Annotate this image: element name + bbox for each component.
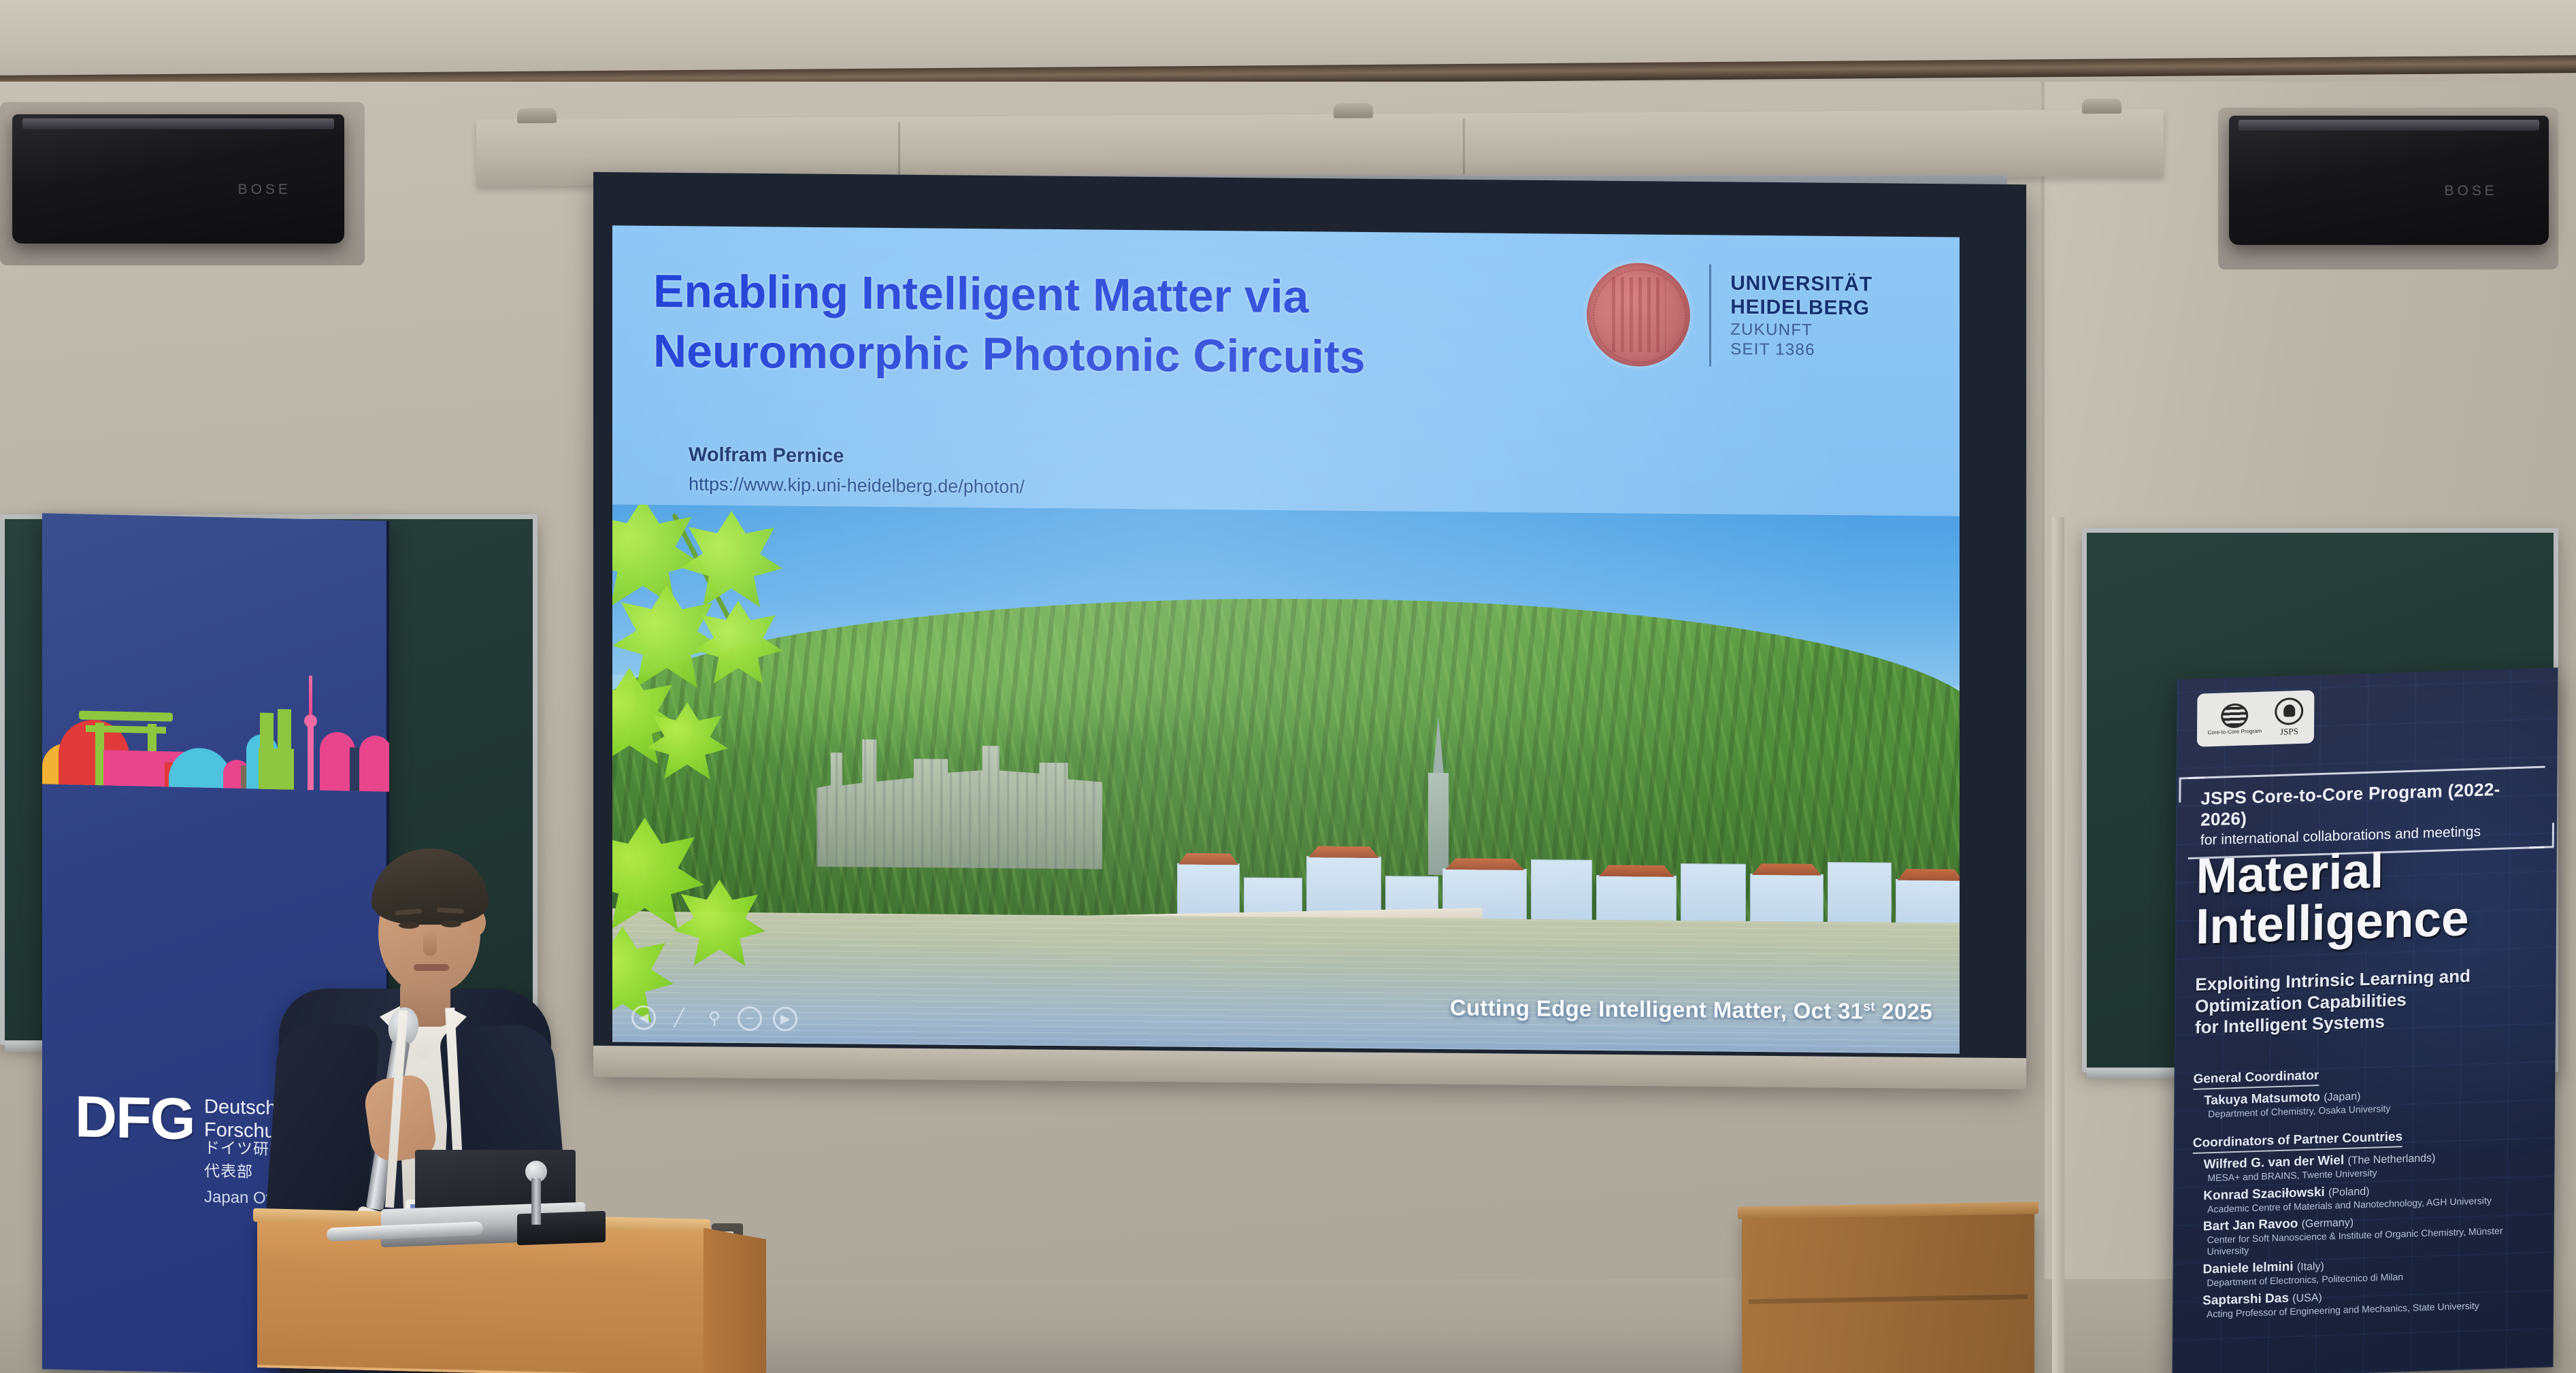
logo-divider <box>1709 264 1711 366</box>
speaker-grille-top-right <box>2239 120 2539 131</box>
footer-year: 2025 <box>1875 999 1932 1025</box>
speaker-brand-left: BOSE <box>238 182 291 198</box>
presenter-nose <box>423 930 437 956</box>
banner-subtitle: Exploiting Intrinsic Learning and Optimi… <box>2195 963 2536 1039</box>
university-logo-text: UNIVERSITÄT HEIDELBERG ZUKUNFT SEIT 1386 <box>1730 272 1872 360</box>
dfg-logo: DFG <box>75 1083 195 1153</box>
tower-mast <box>309 676 312 719</box>
coordinator-country: (Italy) <box>2297 1261 2324 1273</box>
minus-icon[interactable]: − <box>738 1006 762 1031</box>
maple-leaf <box>694 600 782 689</box>
material-intelligence-banner: Core-to-Core Program JSPS JSPS Core-to-C… <box>2172 667 2558 1373</box>
jsps-label: JSPS <box>2275 726 2303 738</box>
wall-pillar-edge <box>2052 517 2064 1373</box>
maple-leaf <box>612 817 704 938</box>
tower-shaft <box>308 725 314 790</box>
screen-bracket <box>517 108 557 123</box>
speaker-brand-right: BOSE <box>2444 183 2497 199</box>
core-to-core-logo: Core-to-Core Program <box>2208 703 2262 736</box>
coordinator-list: General Coordinator Takuya Matsumoto (Ja… <box>2192 1061 2547 1325</box>
previous-slide-icon[interactable]: ◀ <box>631 1006 656 1030</box>
coordinator-country: (Germany) <box>2302 1217 2354 1230</box>
projected-slide: Enabling Intelligent Matter via Neuromor… <box>612 225 1960 1053</box>
slide-title-line-1: Enabling Intelligent Matter via <box>653 261 1456 329</box>
spire-tip <box>1433 716 1444 774</box>
photo-maple-leaves <box>612 504 864 1037</box>
jsps-logo-block: Core-to-Core Program JSPS <box>2197 690 2315 746</box>
pen-annotate-icon[interactable]: ╱ <box>667 1006 691 1030</box>
coordinator-name: Bart Jan Ravoo <box>2203 1217 2298 1234</box>
lecture-hall-photo: BOSE BOSE Enabling Intelligent Matter vi… <box>0 0 2576 1373</box>
slide-footer: Cutting Edge Intelligent Matter, Oct 31s… <box>1450 995 1932 1025</box>
slide-url: https://www.kip.uni-heidelberg.de/photon… <box>689 474 1025 497</box>
heidelberg-seal-icon <box>1587 263 1690 367</box>
speaker-grille-top-left <box>22 118 335 129</box>
uni-line-2: HEIDELBERG <box>1730 295 1872 320</box>
slide-title-line-2: Neuromorphic Photonic Circuits <box>653 321 1456 388</box>
floor <box>721 1334 1769 1373</box>
globe-icon <box>2221 703 2248 728</box>
podium-mic-stem <box>531 1178 541 1225</box>
coordinator-name: Saptarshi Das <box>2202 1291 2289 1308</box>
uni-line-4: SEIT 1386 <box>1730 340 1872 360</box>
next-slide-icon[interactable]: ▶ <box>773 1006 797 1031</box>
lectern-right-groove <box>1749 1294 2028 1304</box>
skyline-shape <box>259 748 294 789</box>
banner-title: Material Intelligence <box>2196 840 2550 953</box>
uni-line-3: ZUKUNFT <box>1730 320 1872 340</box>
bose-speaker-right: BOSE <box>2229 116 2549 245</box>
presenter-eye <box>399 922 419 929</box>
slide-author: Wolfram Pernice <box>689 444 844 467</box>
skyline-shape <box>359 735 389 792</box>
lectern-side-panel <box>704 1228 766 1373</box>
dfg-wordmark: DFG <box>75 1083 195 1153</box>
coordinator-name: Daniele Ielmini <box>2202 1259 2293 1276</box>
screen-bracket <box>1334 103 1373 118</box>
coordinator-country: (The Netherlands) <box>2347 1153 2435 1167</box>
bose-speaker-left: BOSE <box>12 114 344 244</box>
magnifier-zoom-icon[interactable]: ⚲ <box>702 1006 727 1031</box>
university-logo: UNIVERSITÄT HEIDELBERG ZUKUNFT SEIT 1386 <box>1587 263 1872 369</box>
core-to-core-label: Core-to-Core Program <box>2208 729 2262 736</box>
housing-seam <box>1463 119 1465 175</box>
slide-title: Enabling Intelligent Matter via Neuromor… <box>653 261 1456 388</box>
uni-line-1: UNIVERSITÄT <box>1730 272 1872 297</box>
screen-bracket <box>2082 99 2121 114</box>
pdf-viewer-controls[interactable]: ◀ ╱ ⚲ − ▶ <box>631 1006 797 1031</box>
jsps-emblem-icon <box>2275 697 2303 725</box>
coordinator-country: (USA) <box>2292 1292 2322 1304</box>
presenter-eye <box>441 921 461 927</box>
general-coordinator-heading: General Coordinator <box>2193 1068 2319 1090</box>
maple-leaf <box>612 504 701 614</box>
coordinator-country: (Japan) <box>2324 1091 2360 1104</box>
dfg-skyline-graphic <box>42 634 389 792</box>
wall-seam <box>2041 82 2045 1373</box>
maple-leaf <box>674 879 765 972</box>
footer-text: Cutting Edge Intelligent Matter, Oct 31 <box>1450 995 1864 1023</box>
footer-ordinal: st <box>1863 999 1875 1014</box>
housing-seam <box>898 122 900 178</box>
presenter-hair <box>371 848 489 925</box>
maple-leaf <box>680 510 782 613</box>
lectern-right <box>1742 1212 2034 1373</box>
jsps-logo: JSPS <box>2275 697 2303 738</box>
presenter-mouth <box>414 964 449 971</box>
program-line-1: JSPS Core-to-Core Program (2022-2026) <box>2200 778 2532 830</box>
coordinator-country: (Poland) <box>2328 1185 2370 1198</box>
heidelberg-photo <box>612 504 1960 1053</box>
podium-microphone <box>524 1161 548 1223</box>
